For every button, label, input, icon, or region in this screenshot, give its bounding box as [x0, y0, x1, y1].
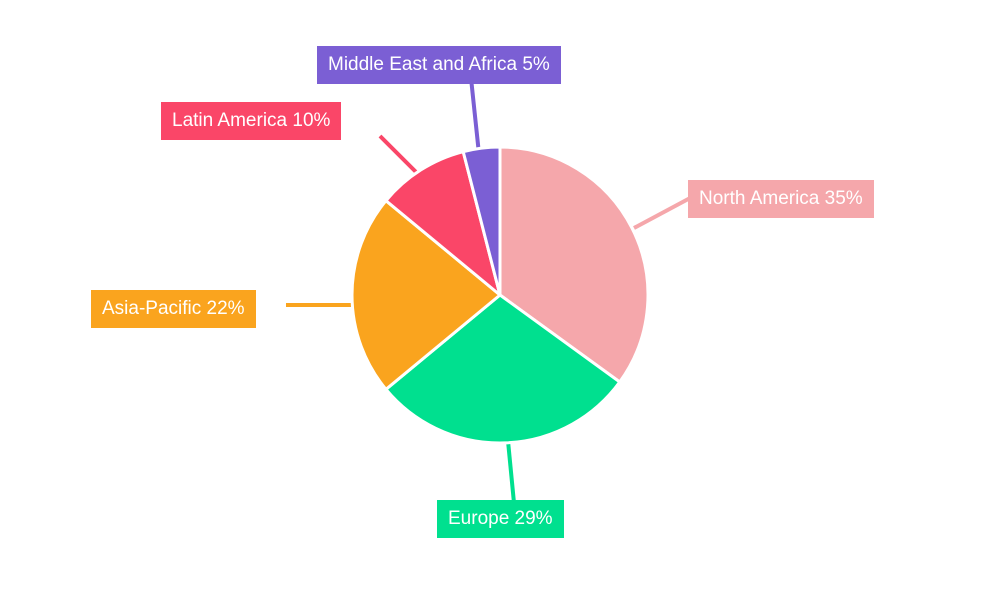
pie-label-middle-east-africa[interactable]: Middle East and Africa 5% — [317, 46, 561, 84]
pie-label-middle-east-africa-text: Middle East and Africa 5% — [328, 54, 550, 75]
pie-label-north-america[interactable]: North America 35% — [688, 180, 874, 218]
pie-label-europe-text: Europe 29% — [448, 508, 553, 529]
pie-label-europe[interactable]: Europe 29% — [437, 500, 564, 538]
pie-label-north-america-text: North America 35% — [699, 188, 863, 209]
pie-label-asia-pacific-text: Asia-Pacific 22% — [102, 298, 245, 319]
pie-chart-figure: North America 35% Europe 29% Asia-Pacifi… — [0, 0, 1000, 600]
pie-slices — [352, 147, 648, 443]
pie-label-latin-america[interactable]: Latin America 10% — [161, 102, 341, 140]
pie-label-asia-pacific[interactable]: Asia-Pacific 22% — [91, 290, 256, 328]
pie-label-latin-america-text: Latin America 10% — [172, 110, 330, 131]
